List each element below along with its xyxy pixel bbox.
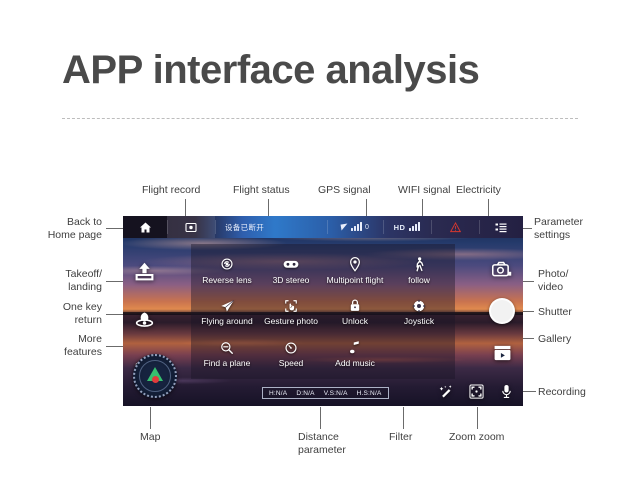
electricity-indicator — [431, 216, 479, 238]
annotation-gps-signal: GPS signal — [318, 184, 371, 197]
function-grid-empty-cell — [387, 333, 451, 375]
one-key-return-button[interactable] — [131, 306, 157, 332]
annotation-gallery: Gallery — [538, 333, 571, 346]
vr-goggles-icon — [283, 257, 299, 272]
back-to-home-button[interactable] — [123, 216, 167, 238]
leader-distance-parameter — [320, 407, 321, 429]
flight-record-button[interactable] — [167, 216, 215, 238]
magic-wand-icon — [439, 384, 454, 399]
title-divider — [62, 118, 578, 119]
flight-status-text: 设备已断开 — [215, 216, 327, 238]
function-label: 3D stereo — [273, 275, 310, 285]
annotation-recording: Recording — [538, 386, 586, 399]
function-grid: Reverse lens 3D stereo — [191, 244, 455, 379]
function-3d-stereo[interactable]: 3D stereo — [259, 250, 323, 292]
bottom-tool-bar — [438, 383, 515, 400]
annotation-takeoff-landing: Takeoff/ landing — [34, 268, 102, 293]
page-title: APP interface analysis — [62, 48, 479, 93]
annotation-electricity: Electricity — [456, 184, 501, 197]
annotation-flight-record: Flight record — [142, 184, 200, 197]
padlock-icon — [349, 298, 361, 313]
function-label: Reverse lens — [202, 275, 252, 285]
photo-video-button[interactable] — [489, 256, 515, 282]
right-control-rail — [489, 256, 515, 366]
parameter-list-icon — [495, 222, 507, 233]
function-label: Add music — [335, 358, 375, 368]
function-flying-around[interactable]: Flying around — [195, 292, 259, 334]
wifi-signal-indicator: HD — [383, 216, 431, 238]
function-multipoint-flight[interactable]: Multipoint flight — [323, 250, 387, 292]
function-gesture-photo[interactable]: Gesture photo — [259, 292, 323, 334]
wifi-bars-icon — [409, 223, 420, 231]
function-add-music[interactable]: Add music — [323, 333, 387, 375]
return-home-drone-icon — [134, 309, 155, 330]
function-label: Find a plane — [204, 358, 251, 368]
slide-canvas: APP interface analysis Back to Home page… — [0, 0, 640, 480]
annotation-more-features: More features — [34, 333, 102, 358]
takeoff-landing-icon — [134, 261, 155, 282]
paper-plane-icon — [220, 298, 235, 313]
function-joystick[interactable]: Joystick — [387, 292, 451, 334]
annotation-shutter: Shutter — [538, 306, 572, 319]
gesture-hand-icon — [284, 298, 298, 313]
annotation-flight-status: Flight status — [233, 184, 290, 197]
crop-frame-icon — [469, 384, 484, 399]
osd-horizontal-speed: H.S:N/A — [357, 390, 382, 397]
gps-bars-icon — [351, 223, 362, 231]
home-icon — [139, 222, 152, 233]
leader-zoom-zoom — [477, 407, 478, 429]
shutter-button[interactable] — [489, 298, 515, 324]
drone-position-marker — [152, 376, 159, 383]
microphone-icon — [500, 384, 513, 399]
annotation-parameter-settings: Parameter settings — [534, 216, 583, 241]
flight-record-icon — [185, 222, 197, 233]
function-label: Joystick — [404, 316, 434, 326]
filter-button[interactable] — [438, 383, 455, 400]
drone-app-screen: 设备已断开 0 HD — [123, 216, 523, 406]
annotation-map: Map — [140, 431, 160, 444]
annotation-wifi-signal: WIFI signal — [398, 184, 451, 197]
function-label: Gesture photo — [264, 316, 318, 326]
leader-filter — [403, 407, 404, 429]
annotation-back-home: Back to Home page — [34, 216, 102, 241]
waypoint-pin-icon — [348, 257, 362, 272]
osd-height: H:N/A — [269, 390, 287, 397]
function-speed[interactable]: Speed — [259, 333, 323, 375]
status-bar: 设备已断开 0 HD — [123, 216, 523, 238]
camera-switch-icon — [492, 261, 512, 278]
leader-map — [150, 407, 151, 429]
recording-button[interactable] — [498, 383, 515, 400]
annotation-photo-video: Photo/ video — [538, 268, 568, 293]
function-unlock[interactable]: Unlock — [323, 292, 387, 334]
annotation-distance-parameter: Distance parameter — [298, 431, 346, 456]
joystick-icon — [412, 298, 426, 313]
gps-signal-indicator: 0 — [327, 216, 383, 238]
annotation-zoom-zoom: Zoom zoom — [449, 431, 504, 444]
reverse-lens-icon — [220, 257, 234, 272]
battery-warning-icon — [450, 222, 461, 233]
takeoff-landing-button[interactable] — [131, 258, 157, 284]
find-drone-icon — [220, 340, 234, 355]
film-play-icon — [493, 344, 512, 362]
music-note-icon — [349, 340, 361, 355]
gallery-button[interactable] — [489, 340, 515, 366]
function-find-a-plane[interactable]: Find a plane — [195, 333, 259, 375]
function-label: Multipoint flight — [327, 275, 384, 285]
parameter-settings-button[interactable] — [479, 216, 523, 238]
gps-satellite-count: 0 — [365, 224, 369, 231]
walking-person-icon — [413, 257, 425, 272]
annotation-filter: Filter — [389, 431, 412, 444]
function-label: Unlock — [342, 316, 368, 326]
function-label: Speed — [279, 358, 304, 368]
function-follow[interactable]: follow — [387, 250, 451, 292]
satellite-icon — [341, 223, 349, 230]
function-label: Flying around — [201, 316, 253, 326]
osd-vertical-speed: V.S:N/A — [324, 390, 348, 397]
osd-distance: D:N/A — [296, 390, 314, 397]
speedometer-icon — [284, 340, 298, 355]
wifi-quality-label: HD — [394, 223, 406, 232]
annotation-one-key-return: One key return — [34, 301, 102, 326]
zoom-button[interactable] — [468, 383, 485, 400]
function-label: follow — [408, 275, 430, 285]
function-reverse-lens[interactable]: Reverse lens — [195, 250, 259, 292]
radar-map-widget[interactable] — [133, 354, 177, 398]
distance-parameter-bar: H:N/A D:N/A V.S:N/A H.S:N/A — [262, 387, 389, 399]
